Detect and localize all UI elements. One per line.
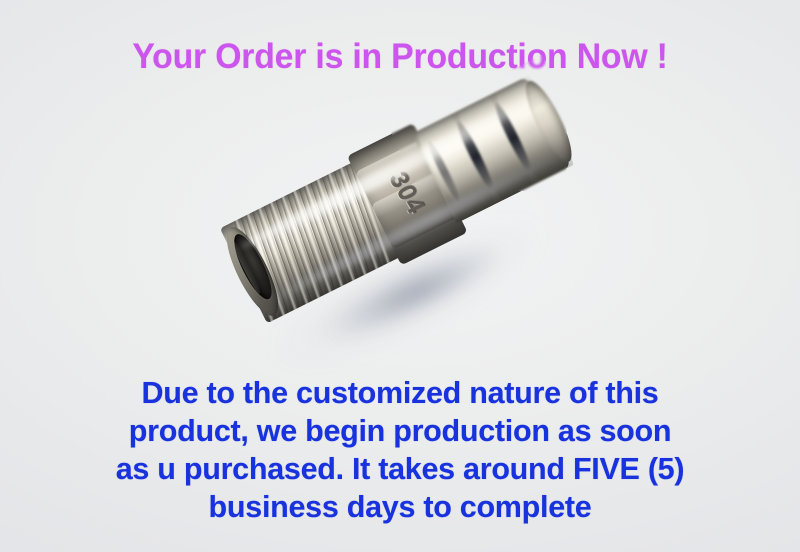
notice-line: Due to the customized nature of this <box>6 374 794 412</box>
notice-line: product, we begin production as soon <box>6 412 794 450</box>
page-title: Your Order is in Production Now ! <box>14 36 786 78</box>
notice-line: as u purchased. It takes around FIVE (5) <box>6 450 794 488</box>
notice-line: business days to complete <box>6 488 794 526</box>
production-notice: Due to the customized nature of this pro… <box>0 374 800 526</box>
promo-image: Your Order is in Production Now ! <box>0 0 800 552</box>
product-photo: 304 <box>232 152 592 364</box>
